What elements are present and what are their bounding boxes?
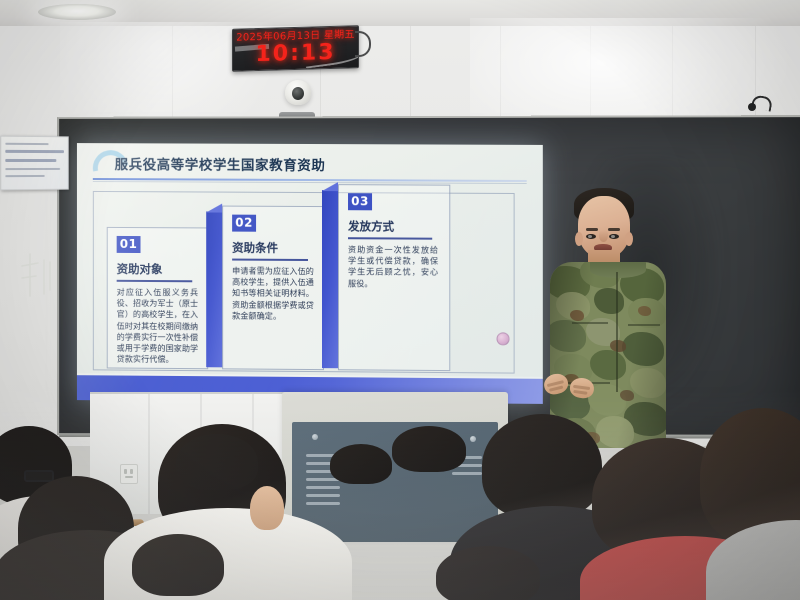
card-fold-top-02: [322, 182, 338, 191]
info-card-03: 03 发放方式 资助资金一次性发放给学生或代偿贷款，确保学生无后顾之忧，安心服役…: [338, 184, 450, 371]
audience-head: [482, 414, 602, 518]
card-heading-03: 发放方式: [348, 218, 394, 234]
card-fold-01: [206, 211, 222, 367]
audience-head: [392, 426, 466, 472]
card-divider-02: [232, 259, 308, 261]
info-card-01: 01 资助对象 对应征入伍服义务兵役、招收为军士（原士官）的高校学生，在入伍时对…: [107, 227, 208, 369]
card-fold-top-01: [206, 203, 222, 212]
audience-head: [132, 534, 224, 596]
audience-head: [176, 434, 258, 490]
led-wall-clock: 2025年06月13日 星期五 10:13: [232, 25, 359, 72]
wall-poster: [0, 136, 68, 191]
dome-camera-icon: [285, 80, 311, 105]
slide-title-row: 服兵役高等学校学生国家教育资助: [93, 151, 525, 179]
card-divider-03: [348, 237, 432, 239]
dot-decor-icon: [497, 332, 510, 345]
foreground-audience-area: [0, 390, 800, 600]
power-socket[interactable]: [120, 464, 138, 484]
audience-head: [436, 546, 540, 600]
card-number-02: 02: [232, 215, 256, 232]
card-body-03: 资助资金一次性发放给学生或代偿贷款，确保学生无后顾之忧，安心服役。: [348, 244, 438, 289]
desk-seam: [148, 394, 150, 514]
card-heading-01: 资助对象: [117, 261, 163, 277]
uniform-collar: [590, 262, 646, 278]
cable-clip: [748, 103, 756, 111]
info-card-02: 02 资助条件 申请者需为应征入伍的高校学生，提供入伍通知书等相关证明材料。资助…: [222, 206, 324, 371]
audience-head: [330, 444, 392, 484]
card-body-01: 对应征入伍服义务兵役、招收为军士（原士官）的高校学生，在入伍时对其在校期间缴纳的…: [117, 287, 199, 366]
camera-lens: [292, 87, 304, 100]
card-number-01: 01: [117, 236, 141, 253]
uniform-placket: [616, 272, 618, 392]
card-body-02: 申请者需为应征入伍的高校学生，提供入伍通知书等相关证明材料。资助金额根据学费或贷…: [232, 266, 314, 323]
eyeglasses-icon: [24, 470, 54, 482]
teaching-podium: [282, 392, 508, 542]
slide-title: 服兵役高等学校学生国家教育资助: [115, 153, 326, 174]
card-number-03: 03: [348, 193, 372, 210]
audience-hand: [250, 486, 284, 530]
presenter-nose: [599, 230, 608, 242]
card-fold-02: [322, 190, 338, 368]
card-divider-01: [117, 280, 193, 282]
projected-slide: 服兵役高等学校学生国家教育资助 01 资助对象 对应征入伍服义务兵役、招收为军士…: [77, 143, 543, 404]
ceiling-light: [38, 4, 116, 20]
classroom-scene-photo: 2025年06月13日 星期五 10:13: [0, 0, 800, 600]
card-heading-02: 资助条件: [232, 240, 278, 256]
